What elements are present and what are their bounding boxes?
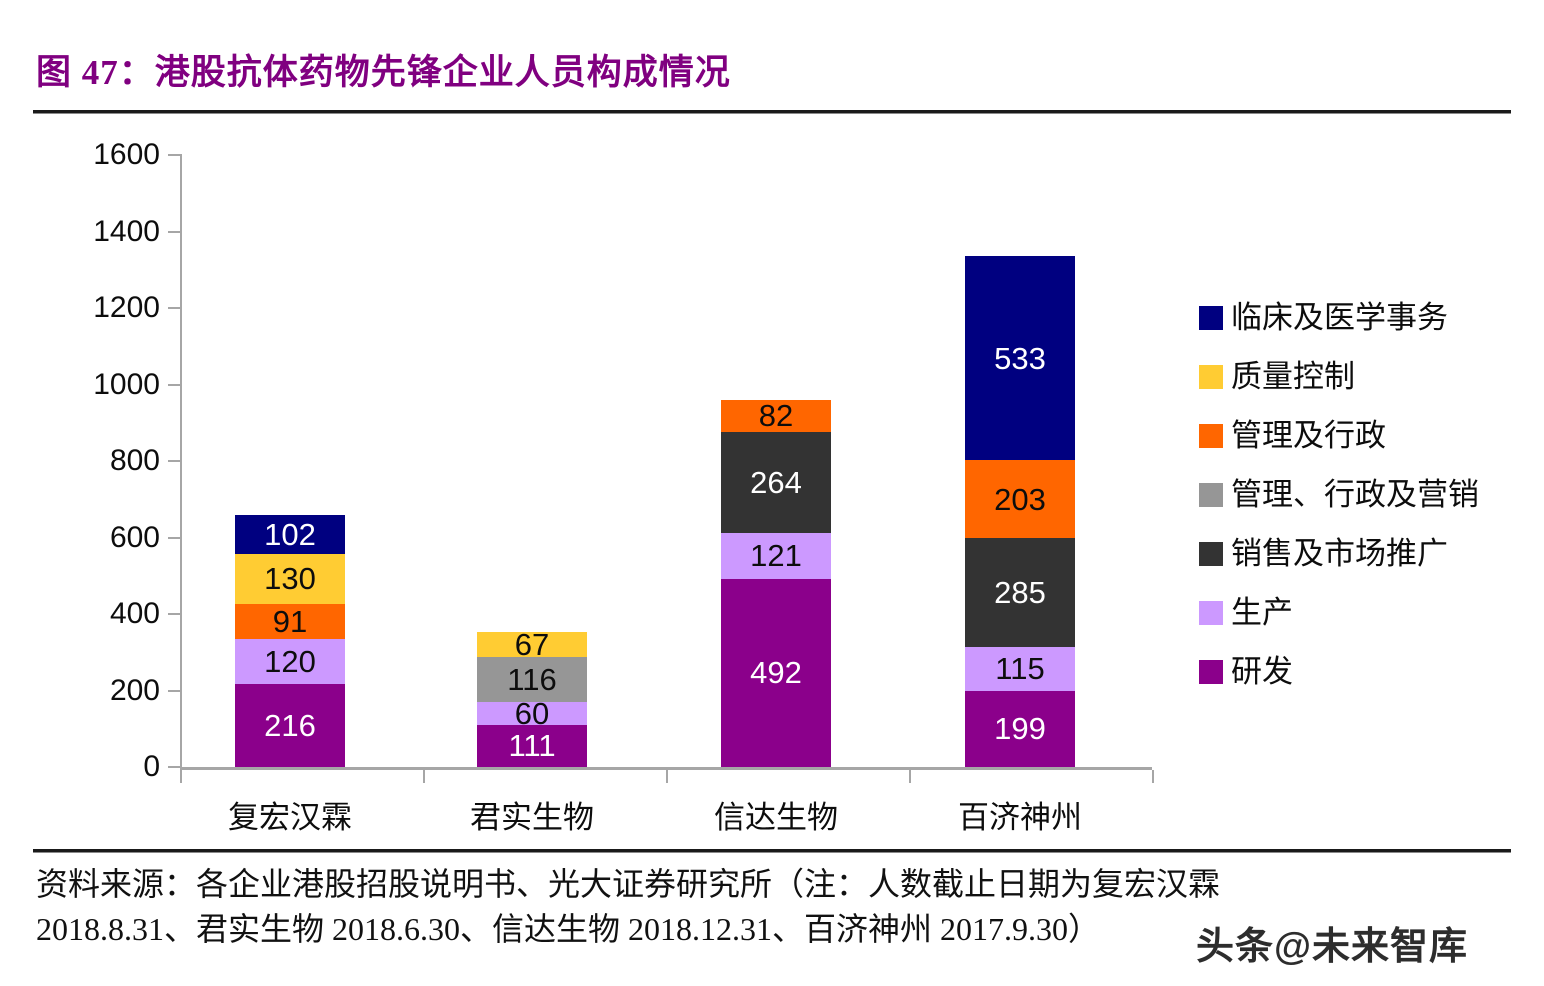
x-axis-category-label: 君实生物: [422, 792, 642, 837]
bar-segment[interactable]: 216: [235, 684, 345, 767]
bar-segment[interactable]: 203: [965, 460, 1075, 538]
bar-segment-value: 130: [264, 563, 316, 594]
x-axis-tick: [1152, 770, 1154, 783]
bar-segment-value: 264: [750, 467, 802, 498]
page-title: 图 47：港股抗体药物先锋企业人员构成情况: [36, 44, 731, 95]
legend-swatch-icon: [1199, 365, 1223, 389]
bar-segment-value: 121: [750, 540, 802, 571]
x-axis-tick: [423, 770, 425, 783]
bar-segment-value: 116: [507, 664, 556, 695]
x-axis-tick: [180, 770, 182, 783]
legend-label: 研发: [1231, 656, 1293, 687]
legend-label: 管理、行政及营销: [1231, 479, 1479, 510]
bar-segment-value: 115: [995, 653, 1044, 684]
bar-segment-value: 533: [994, 343, 1046, 374]
bar-segment[interactable]: 199: [965, 691, 1075, 767]
source-note: 资料来源：各企业港股招股说明书、光大证券研究所（注：人数截止日期为复宏汉霖 20…: [36, 862, 1516, 953]
x-axis-category-label: 百济神州: [910, 792, 1130, 837]
bar-segment-value: 199: [994, 713, 1046, 744]
source-note-line-1: 资料来源：各企业港股招股说明书、光大证券研究所（注：人数截止日期为复宏汉霖: [36, 862, 1516, 907]
bar-segment[interactable]: 111: [477, 725, 587, 767]
legend-item[interactable]: 临床及医学事务: [1199, 288, 1529, 347]
bar-segment-value: 91: [273, 606, 307, 637]
bar-stack[interactable]: 199115285203533: [965, 256, 1075, 767]
x-axis-category-label: 信达生物: [666, 792, 886, 837]
legend-item[interactable]: 管理、行政及营销: [1199, 465, 1529, 524]
chart-legend: 临床及医学事务质量控制管理及行政管理、行政及营销销售及市场推广生产研发: [1199, 288, 1529, 701]
legend-swatch-icon: [1199, 306, 1223, 330]
title-divider: [33, 110, 1511, 114]
legend-swatch-icon: [1199, 601, 1223, 625]
bar-segment[interactable]: 121: [721, 533, 831, 579]
legend-swatch-icon: [1199, 660, 1223, 684]
bar-stack[interactable]: 1116011667: [477, 632, 587, 767]
legend-label: 管理及行政: [1231, 420, 1386, 451]
legend-label: 临床及医学事务: [1231, 302, 1448, 333]
bar-segment[interactable]: 285: [965, 538, 1075, 647]
bar-segment[interactable]: 60: [477, 702, 587, 725]
legend-label: 质量控制: [1231, 361, 1355, 392]
x-axis-tick: [666, 770, 668, 783]
bar-segment-value: 216: [264, 710, 316, 741]
bar-segment-value: 492: [750, 657, 802, 688]
bar-segment[interactable]: 120: [235, 639, 345, 685]
bar-stack[interactable]: 21612091130102: [235, 515, 345, 767]
bar-segment-value: 67: [515, 629, 549, 660]
bar-segment-value: 120: [264, 646, 316, 677]
legend-swatch-icon: [1199, 542, 1223, 566]
legend-swatch-icon: [1199, 483, 1223, 507]
legend-item[interactable]: 管理及行政: [1199, 406, 1529, 465]
bar-segment-value: 82: [759, 400, 793, 431]
bar-segment-value: 111: [508, 730, 555, 761]
legend-item[interactable]: 销售及市场推广: [1199, 524, 1529, 583]
legend-item[interactable]: 生产: [1199, 583, 1529, 642]
bar-segment[interactable]: 130: [235, 554, 345, 604]
bar-segment-value: 285: [994, 577, 1046, 608]
bar-segment[interactable]: 102: [235, 515, 345, 554]
bar-segment[interactable]: 533: [965, 256, 1075, 460]
legend-label: 生产: [1231, 597, 1293, 628]
bar-segment-value: 203: [994, 484, 1046, 515]
source-divider: [33, 849, 1511, 853]
bar-segment[interactable]: 264: [721, 432, 831, 533]
legend-label: 销售及市场推广: [1231, 538, 1448, 569]
bar-segment[interactable]: 82: [721, 400, 831, 431]
bar-stack[interactable]: 49212126482: [721, 400, 831, 767]
bar-segment[interactable]: 116: [477, 657, 587, 701]
legend-item[interactable]: 质量控制: [1199, 347, 1529, 406]
x-axis-category-label: 复宏汉霖: [180, 792, 400, 837]
source-note-line-2: 2018.8.31、君实生物 2018.6.30、信达生物 2018.12.31…: [36, 907, 1516, 952]
bar-segment[interactable]: 115: [965, 647, 1075, 691]
legend-item[interactable]: 研发: [1199, 642, 1529, 701]
bar-segment[interactable]: 91: [235, 604, 345, 639]
x-axis-tick: [909, 770, 911, 783]
bar-segment-value: 102: [264, 519, 316, 550]
bar-segment[interactable]: 492: [721, 579, 831, 767]
bar-segment[interactable]: 67: [477, 632, 587, 658]
legend-swatch-icon: [1199, 424, 1223, 448]
bar-segment-value: 60: [515, 698, 549, 729]
